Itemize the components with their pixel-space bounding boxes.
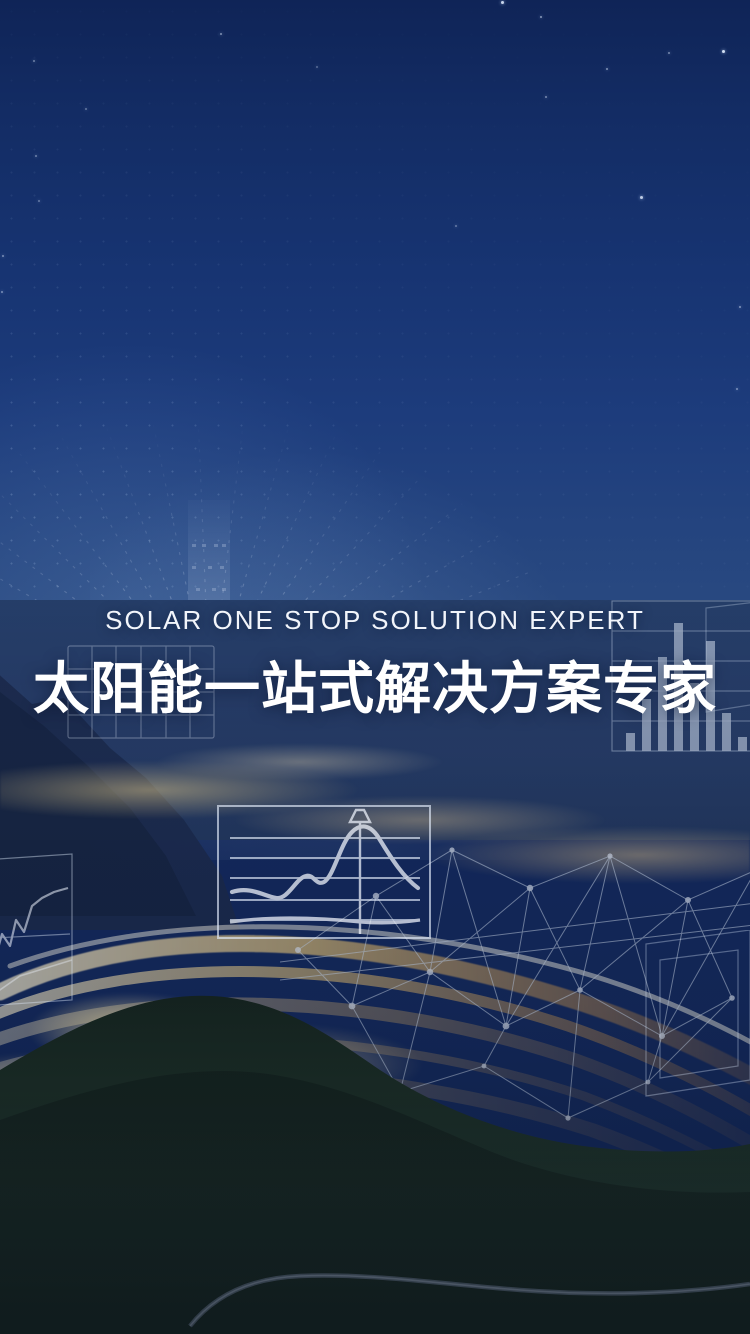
hero-banner: SOLAR ONE STOP SOLUTION EXPERT 太阳能一站式解决方…: [0, 0, 750, 1334]
line-chart-overlay: [212, 800, 436, 945]
hero-eyebrow: SOLAR ONE STOP SOLUTION EXPERT: [0, 600, 750, 640]
hero-headline: 太阳能一站式解决方案专家: [0, 656, 750, 722]
hero-copy-block: SOLAR ONE STOP SOLUTION EXPERT 太阳能一站式解决方…: [0, 600, 750, 722]
panel-frame-right: [638, 930, 750, 1110]
edge-chart-overlay: [0, 848, 80, 1018]
